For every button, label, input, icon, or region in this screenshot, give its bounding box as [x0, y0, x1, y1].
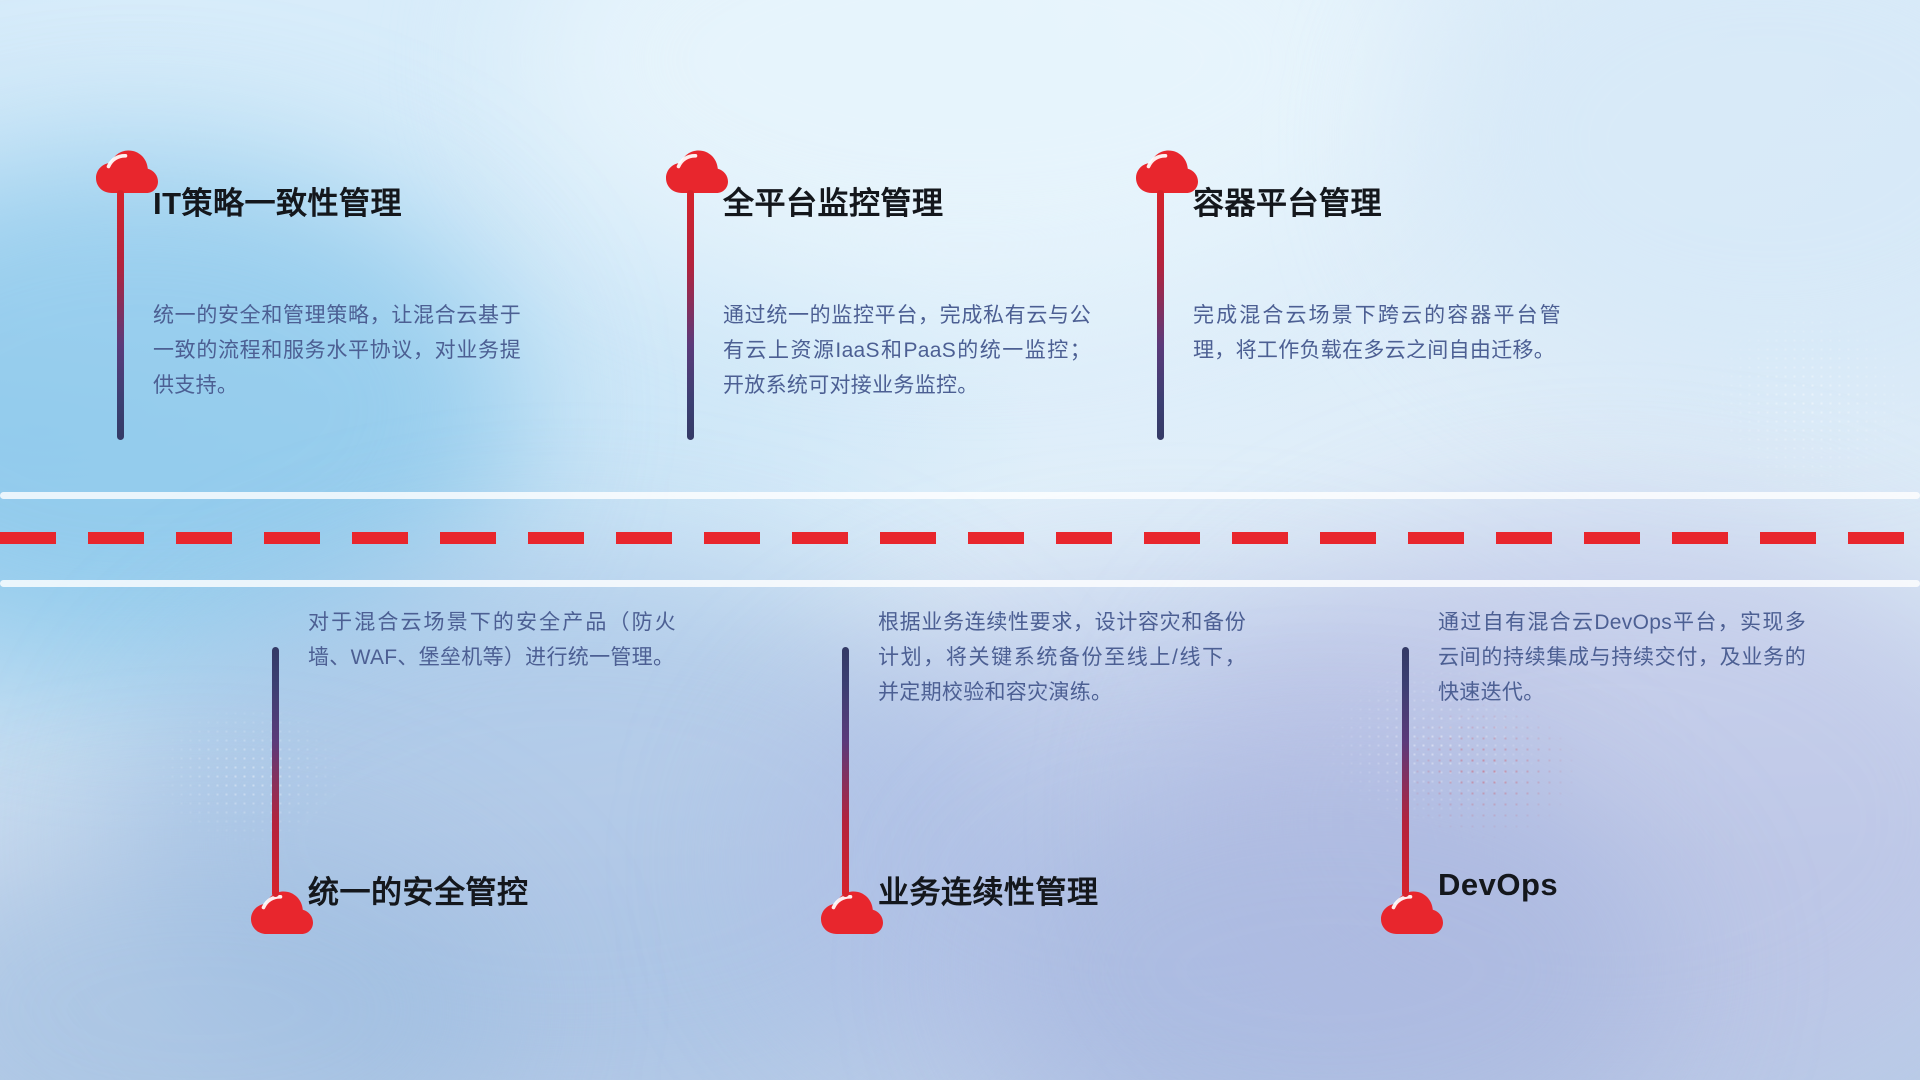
- pin-stem: [687, 190, 694, 440]
- pin-stem: [1157, 190, 1164, 440]
- card-body: 统一的安全和管理策略，让混合云基于一致的流程和服务水平协议，对业务提供支持。: [153, 298, 521, 403]
- pin-stem: [272, 647, 279, 897]
- divider-rule-top: [0, 492, 1920, 499]
- card-title: 全平台监控管理: [723, 178, 944, 223]
- pin-stem: [117, 190, 124, 440]
- pin-stem: [1402, 647, 1409, 897]
- card-body: 根据业务连续性要求，设计容灾和备份计划，将关键系统备份至线上/线下，并定期校验和…: [878, 605, 1246, 710]
- dot-texture: [1700, 300, 1920, 500]
- card-body: 通过自有混合云DevOps平台，实现多云间的持续集成与持续交付，及业务的快速迭代…: [1438, 605, 1806, 710]
- cloud-icon: [665, 150, 729, 194]
- cloud-icon: [1135, 150, 1199, 194]
- pin-stem: [842, 647, 849, 897]
- cloud-icon: [1380, 891, 1444, 935]
- dashed-road-line: [0, 532, 1920, 544]
- divider: [0, 485, 1920, 605]
- divider-rule-bottom: [0, 580, 1920, 587]
- card-body: 完成混合云场景下跨云的容器平台管理，将工作负载在多云之间自由迁移。: [1193, 298, 1561, 368]
- card-title: 业务连续性管理: [878, 867, 1099, 912]
- cloud-icon: [250, 891, 314, 935]
- infographic-canvas: IT策略一致性管理 统一的安全和管理策略，让混合云基于一致的流程和服务水平协议，…: [0, 0, 1920, 1080]
- card-title: DevOps: [1438, 867, 1558, 903]
- card-title: 容器平台管理: [1193, 178, 1382, 223]
- background-blob: [520, 0, 1420, 300]
- card-title: 统一的安全管控: [308, 867, 529, 912]
- card-body: 对于混合云场景下的安全产品（防火墙、WAF、堡垒机等）进行统一管理。: [308, 605, 676, 675]
- cloud-icon: [820, 891, 884, 935]
- background-blob: [980, 760, 1680, 1080]
- card-body: 通过统一的监控平台，完成私有云与公有云上资源IaaS和PaaS的统一监控；开放系…: [723, 298, 1091, 403]
- cloud-icon: [95, 150, 159, 194]
- card-title: IT策略一致性管理: [153, 178, 402, 223]
